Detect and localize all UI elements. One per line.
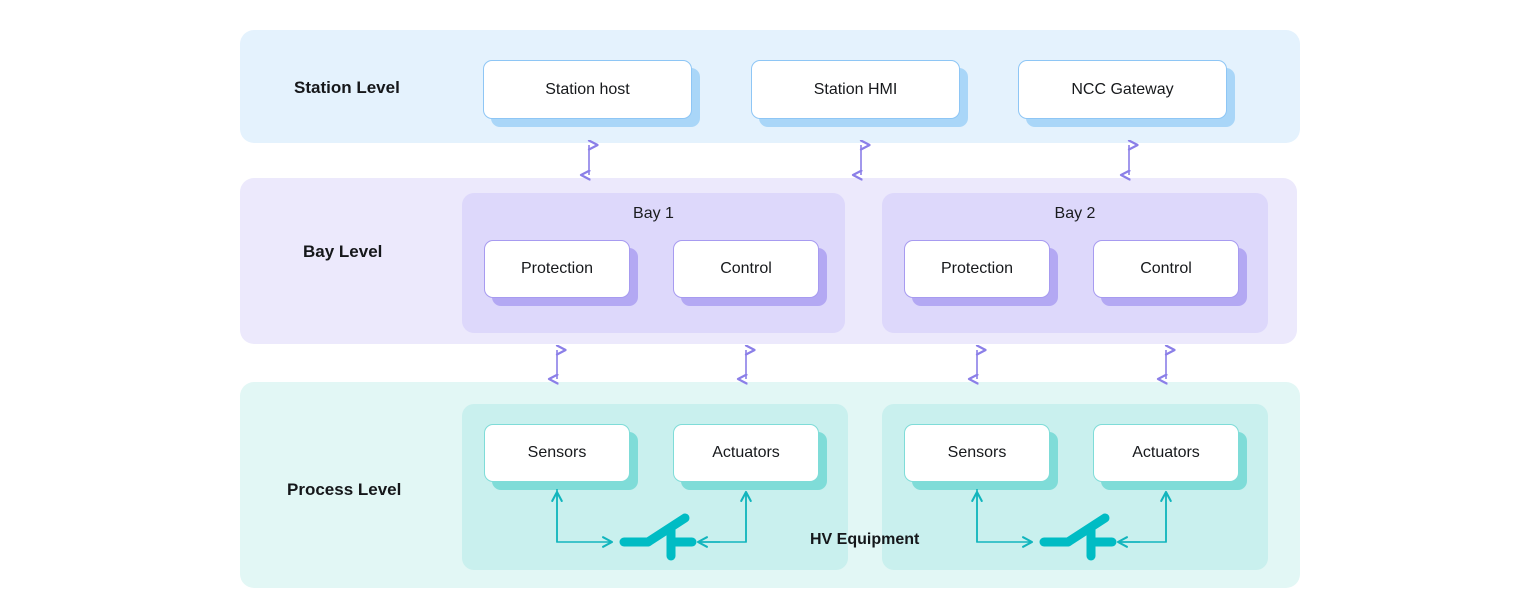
hv-switch-symbol-1: [624, 518, 692, 556]
process2-actuator-flow: [1118, 492, 1166, 542]
process1-actuator-flow: [698, 492, 746, 542]
hv-switch-symbol-2: [1044, 518, 1112, 556]
process2-sensor-flow: [977, 489, 1032, 542]
process1-sensor-flow: [557, 489, 612, 542]
hv-equipment-label: HV Equipment: [810, 531, 919, 549]
diagram-canvas: Station Level Station host Station HMI N…: [0, 0, 1536, 609]
connector-layer: [0, 0, 1536, 609]
